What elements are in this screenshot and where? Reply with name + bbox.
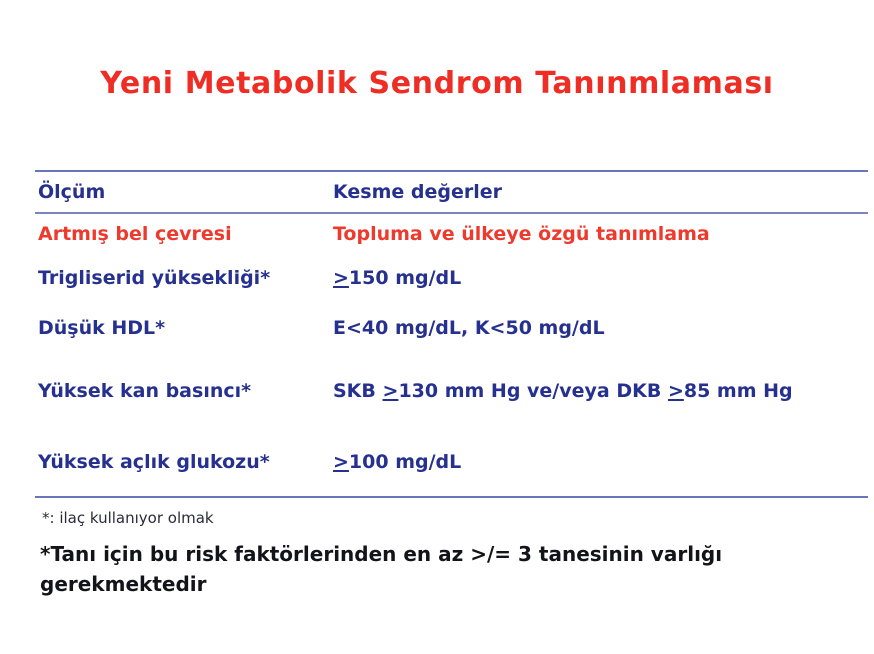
column-header-measure: Ölçüm (35, 181, 333, 203)
table-row: Trigliserid yüksekliği* >150 mg/dL (35, 254, 868, 302)
table-row: Düşük HDL* E<40 mg/dL, K<50 mg/dL (35, 302, 868, 354)
table-bottom-rule (35, 496, 868, 498)
footnote-asterisk: *: ilaç kullanıyor olmak (42, 509, 214, 527)
row-cutoff-text: 150 mg/dL (349, 267, 461, 289)
greater-equal-symbol: > (333, 451, 349, 473)
row-measure-label: Yüksek açlık glukozu* (35, 451, 333, 473)
page-title: Yeni Metabolik Sendrom Tanınmlaması (0, 66, 874, 101)
row-cutoff-value: >150 mg/dL (333, 267, 868, 289)
table-header-row: Ölçüm Kesme değerler (35, 172, 868, 212)
column-header-cutoff: Kesme değerler (333, 181, 868, 203)
table-row: Yüksek açlık glukozu* >100 mg/dL (35, 428, 868, 496)
row-cutoff-text: 100 mg/dL (349, 451, 461, 473)
slide-canvas: Yeni Metabolik Sendrom Tanınmlaması Ölçü… (0, 0, 874, 654)
greater-equal-symbol-secondary: > (668, 380, 684, 402)
row-measure-label: Yüksek kan basıncı* (35, 380, 333, 402)
criteria-table: Ölçüm Kesme değerler Artmış bel çevresi … (35, 170, 868, 498)
row-measure-label: Trigliserid yüksekliği* (35, 267, 333, 289)
row-cutoff-value: >100 mg/dL (333, 451, 868, 473)
row-cutoff-value: SKB >130 mm Hg ve/veya DKB >85 mm Hg (333, 380, 868, 402)
footnote-diagnosis: *Tanı için bu risk faktörlerinden en az … (40, 539, 840, 599)
row-measure-label: Düşük HDL* (35, 317, 333, 339)
table-row: Yüksek kan basıncı* SKB >130 mm Hg ve/ve… (35, 354, 868, 428)
row-cutoff-value: E<40 mg/dL, K<50 mg/dL (333, 317, 868, 339)
table-row: Artmış bel çevresi Topluma ve ülkeye özg… (35, 214, 868, 254)
row-cutoff-prefix: SKB (333, 380, 383, 402)
row-measure-label: Artmış bel çevresi (35, 223, 333, 245)
greater-equal-symbol: > (383, 380, 399, 402)
row-cutoff-value: Topluma ve ülkeye özgü tanımlama (333, 223, 868, 245)
row-cutoff-text: 85 mm Hg (684, 380, 793, 402)
row-cutoff-mid: 130 mm Hg ve/veya DKB (398, 380, 668, 402)
greater-equal-symbol: > (333, 267, 349, 289)
